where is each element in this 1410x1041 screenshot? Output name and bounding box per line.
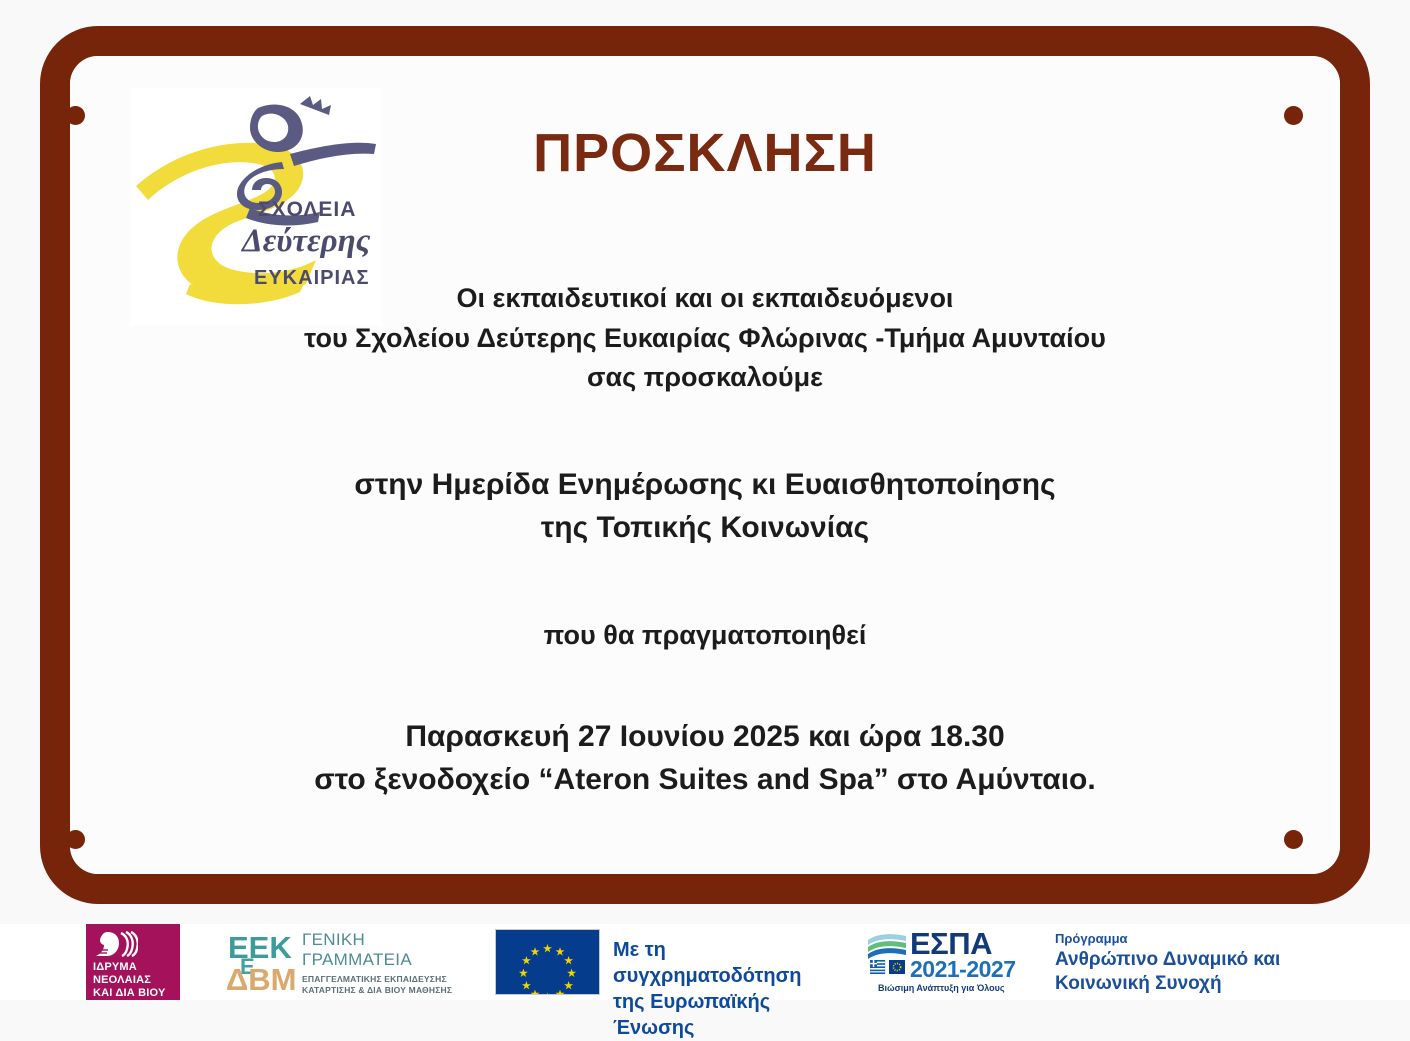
gs-subtitle-line-2: ΚΑΤΑΡΤΙΣΗΣ & ΔΙΑ ΒΙΟΥ ΜΑΘΗΣΗΣ [302,985,452,996]
espa-wave-icon [866,932,908,962]
programme-label: Πρόγραμμα [1055,931,1128,946]
dbm-mark-text: ΔΒΜ [226,962,296,996]
programme-name-line-2: Κοινωνική Συνοχή [1055,972,1280,996]
funding-footer: ΙΔΡΥΜΑ ΝΕΟΛΑΙΑΣ ΚΑΙ ΔΙΑ ΒΙΟΥ ΕΕΚ Ε ΔΒΜ Γ… [0,924,1410,1000]
programme-title: Πρόγραμμα Ανθρώπινο Δυναμικό και Κοινωνι… [1055,924,1355,1000]
eu-text-line-2: της Ευρωπαϊκής Ένωσης [613,989,855,1041]
lead-paragraph: Οι εκπαιδευτικοί και οι εκπαιδευόμενοι τ… [70,279,1340,396]
general-secretariat-logo: ΕΕΚ Ε ΔΒΜ ΓΕΝΙΚΗ ΓΡΑΜΜΑΤΕΙΑ ΕΠΑΓΓΕΛΜΑΤΙΚ… [226,924,476,1000]
programme-name-line-1: Ανθρώπινο Δυναμικό και [1055,948,1280,972]
lead-line-3: σας προσκαλούμε [70,358,1340,397]
event-line-1: στην Ημερίδα Ενημέρωσης κι Ευαισθητοποίη… [70,463,1340,507]
greece-flag-icon [870,960,885,974]
eek-dbm-mark-icon: ΕΕΚ Ε ΔΒΜ [226,928,296,996]
espa-years: 2021-2027 [910,956,1016,983]
european-union-flag-icon [495,929,600,995]
programme-name: Ανθρώπινο Δυναμικό και Κοινωνική Συνοχή [1055,948,1280,997]
frame-screw-bottom-left [66,830,85,849]
espa-tagline: Βιώσιμη Ανάπτυξη για Όλους [878,983,1005,993]
held-line-1: που θα πραγματοποιηθεί [70,616,1340,655]
event-venue: στο ξενοδοχείο “Ateron Suites and Spa” σ… [70,758,1340,802]
eu-flag-small-icon [889,960,905,974]
invitation-content: ΠΡΟΣΚΛΗΣΗ Οι εκπαιδευτικοί και οι εκπαιδ… [70,100,1340,802]
eu-stars [496,930,599,994]
eu-text-line-1: Με τη συγχρηματοδότηση [613,937,855,989]
datetime-venue-paragraph: Παρασκευή 27 Ιουνίου 2025 και ώρα 18.30 … [70,715,1340,802]
general-secretariat-text: ΓΕΝΙΚΗ ΓΡΑΜΜΑΤΕΙΑ ΕΠΑΓΓΕΛΜΑΤΙΚΗΣ ΕΚΠΑΙΔΕ… [302,930,452,996]
frame-screw-bottom-right [1284,830,1303,849]
event-paragraph: στην Ημερίδα Ενημέρωσης κι Ευαισθητοποίη… [70,463,1340,550]
greece-and-eu-flag-icons [870,960,906,974]
profile-heads-icon [94,929,138,959]
eek-mark-text: ΕΕΚ [228,930,292,965]
lead-line-2: του Σχολείου Δεύτερης Ευκαιρίας Φλώρινας… [70,319,1340,358]
event-datetime: Παρασκευή 27 Ιουνίου 2025 και ώρα 18.30 [70,715,1340,759]
iney-line-2: ΝΕΟΛΑΙΑΣ [93,974,166,987]
eu-cofinancing-text: Με τη συγχρηματοδότηση της Ευρωπαϊκής Έν… [613,937,855,1041]
gs-subtitle-line-1: ΕΠΑΓΓΕΛΜΑΤΙΚΗΣ ΕΚΠΑΙΔΕΥΣΗΣ [302,974,452,985]
event-line-2: της Τοπικής Κοινωνίας [70,506,1340,550]
youth-and-lifelong-learning-foundation-logo: ΙΔΡΥΜΑ ΝΕΟΛΑΙΑΣ ΚΑΙ ΔΙΑ ΒΙΟΥ [86,924,180,1000]
gs-title-line-1: ΓΕΝΙΚΗ [302,930,452,950]
espa-programme-logo: ΕΣΠΑ 2021-2027 [866,924,1036,1000]
iney-name: ΙΔΡΥΜΑ ΝΕΟΛΑΙΑΣ ΚΑΙ ΔΙΑ ΒΙΟΥ [93,961,166,1000]
page-title: ΠΡΟΣΚΛΗΣΗ [70,124,1340,183]
iney-line-1: ΙΔΡΥΜΑ [93,961,166,974]
held-paragraph: που θα πραγματοποιηθεί [70,616,1340,655]
iney-line-3: ΚΑΙ ΔΙΑ ΒΙΟΥ [93,987,166,1000]
gs-title-line-2: ΓΡΑΜΜΑΤΕΙΑ [302,950,452,970]
european-union-cofinancing: Με τη συγχρηματοδότηση της Ευρωπαϊκής Έν… [495,924,855,1000]
lead-line-1: Οι εκπαιδευτικοί και οι εκπαιδευόμενοι [70,279,1340,318]
